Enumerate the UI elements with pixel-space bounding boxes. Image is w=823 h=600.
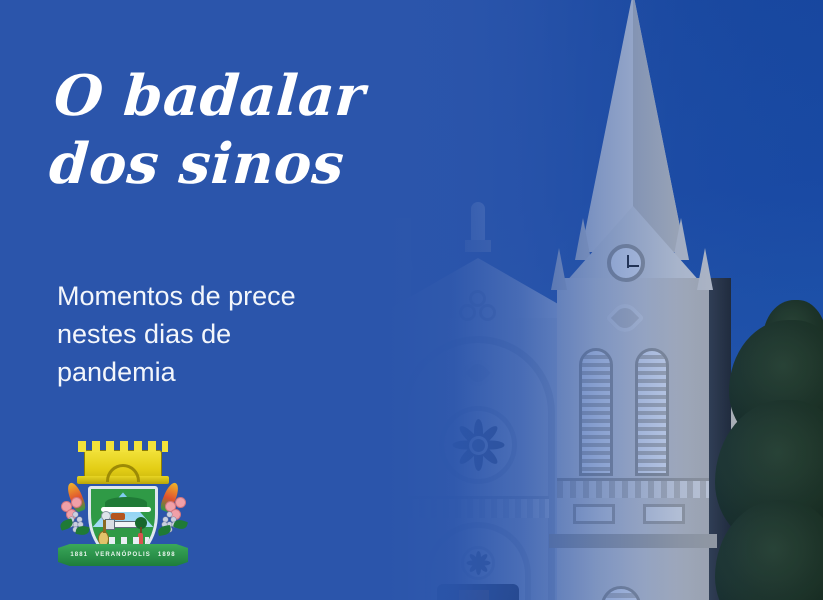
page-subtitle: Momentos de prece nestes dias de pandemi… [57,277,357,391]
leaf-icon [157,525,171,536]
text-panel: O badalar dos sinos Momentos de prece ne… [0,0,430,600]
ribbon-city-name: VERANÓPOLIS [95,552,151,558]
crest-ribbon: 1881 VERANÓPOLIS 1898 [58,544,188,566]
tree-icon [135,517,147,529]
poster: O badalar dos sinos Momentos de prece ne… [0,0,823,600]
leaf-icon [75,525,89,536]
ribbon-year-right: 1898 [158,552,176,558]
ribbon-year-left: 1881 [70,552,88,558]
coat-of-arms: 1881 VERANÓPOLIS 1898 [48,446,198,581]
apple-icon [72,498,81,507]
apple-icon [176,498,185,507]
page-title: O badalar dos sinos [47,62,427,198]
